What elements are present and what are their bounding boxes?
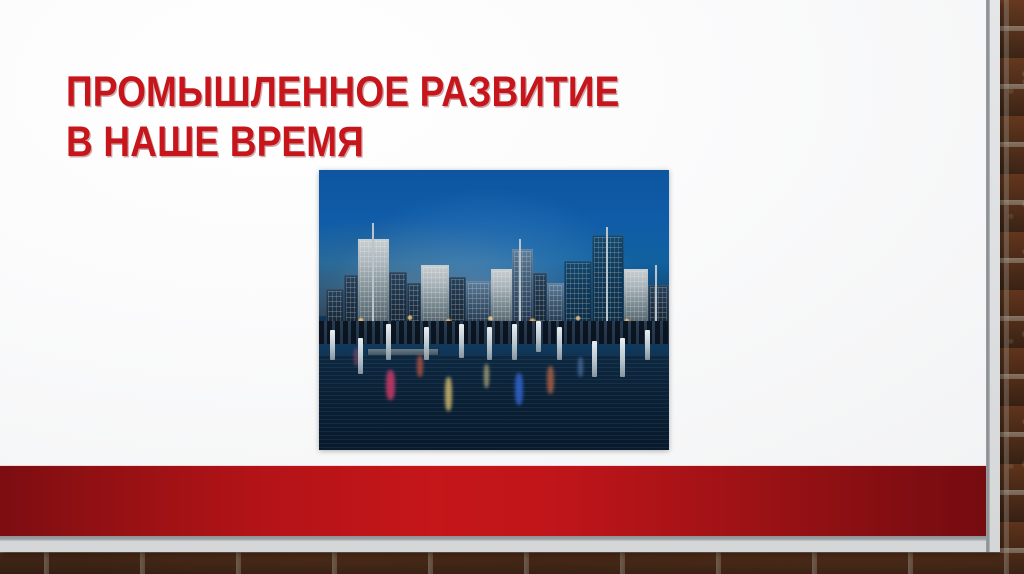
bollard [512, 324, 517, 360]
bollard [557, 327, 562, 361]
bollard [424, 327, 429, 361]
bollard [487, 327, 492, 361]
light-reflection [515, 373, 523, 405]
light-reflection [547, 366, 554, 394]
vertical-divider-rule [986, 0, 990, 552]
photo-canvas [319, 170, 669, 450]
presentation-slide: ПРОМЫШЛЕННОЕ РАЗВИТИЕ В НАШЕ ВРЕМЯ Ночна… [0, 0, 1024, 574]
light-reflection [445, 377, 452, 411]
bollard [536, 321, 541, 352]
bollard [386, 324, 391, 360]
light-reflection [484, 364, 489, 388]
light-reflection [417, 355, 423, 377]
bollard [645, 330, 650, 361]
bollard [459, 324, 464, 358]
light-reflection [386, 370, 395, 400]
red-accent-band [0, 466, 987, 536]
city-skyline-photo [319, 170, 669, 450]
waterfront-promenade [319, 321, 669, 343]
bollard [592, 341, 597, 377]
bollard [330, 330, 335, 361]
water-surface [319, 355, 669, 450]
bollard [620, 338, 625, 377]
light-reflection [578, 357, 583, 377]
slide-title: ПРОМЫШЛЕННОЕ РАЗВИТИЕ В НАШЕ ВРЕМЯ [66, 67, 651, 167]
accent-band-shadow-rule [0, 536, 987, 541]
bollard [358, 338, 363, 374]
